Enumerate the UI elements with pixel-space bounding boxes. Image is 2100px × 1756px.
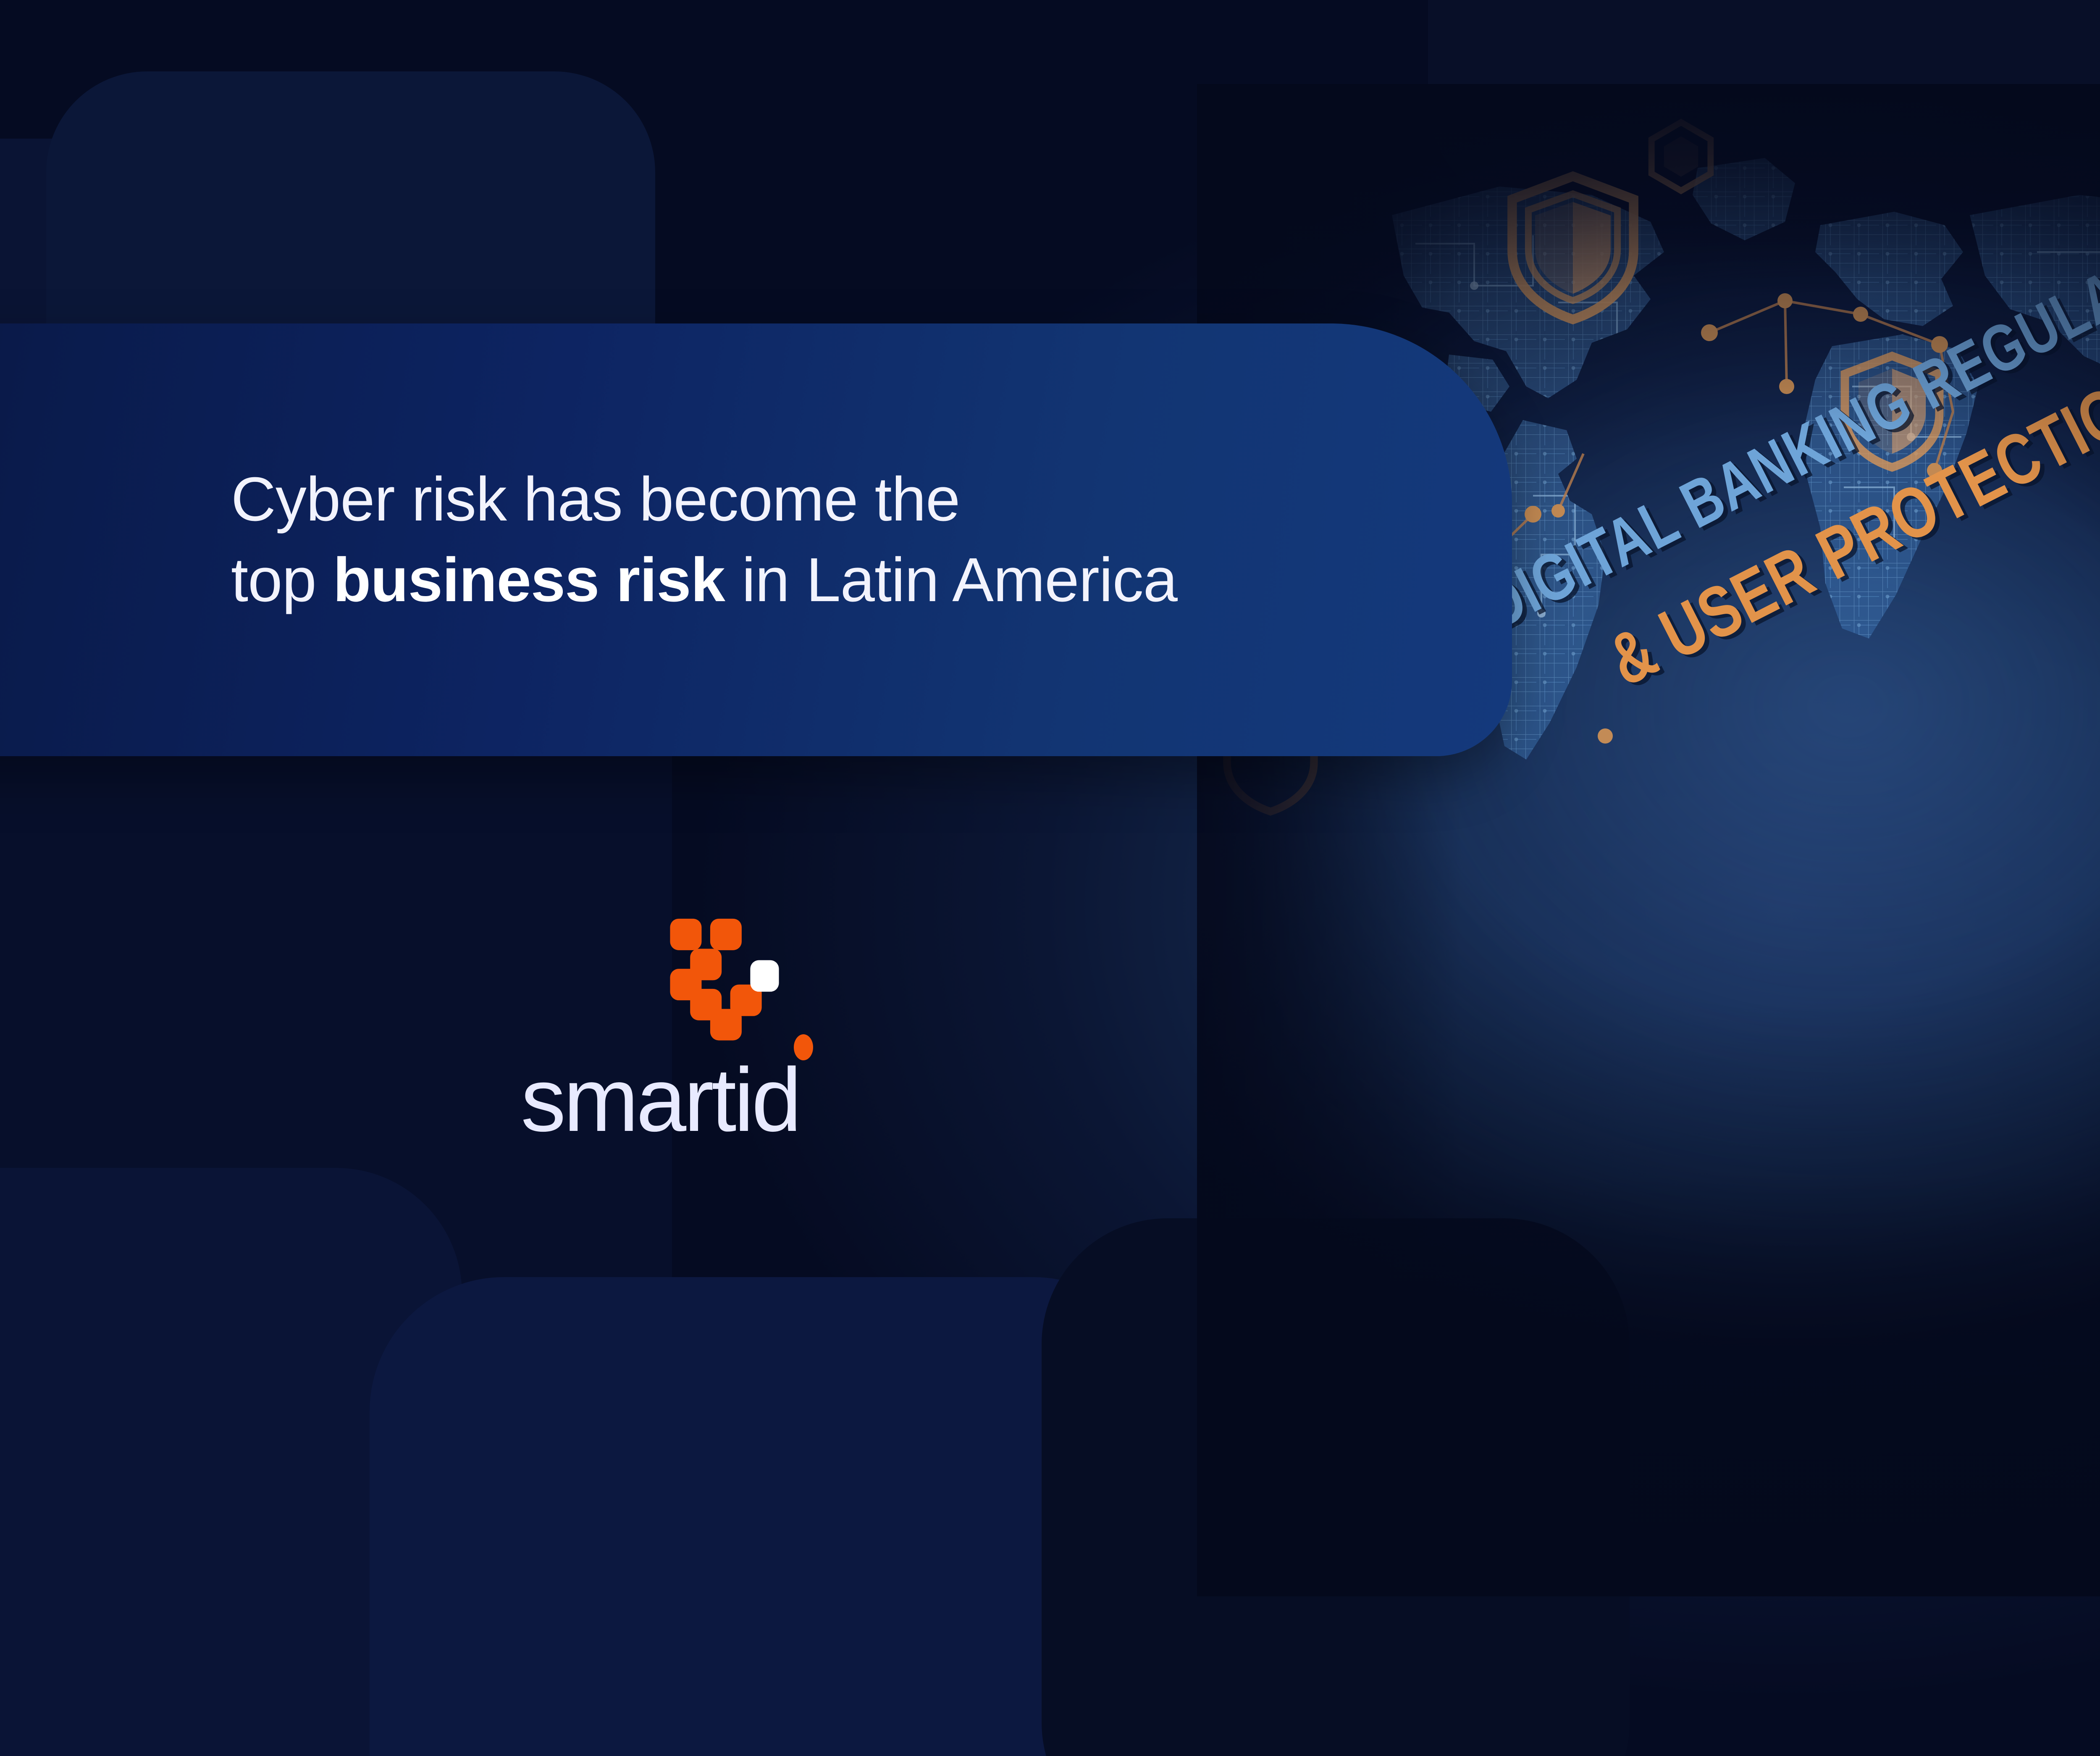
headline-emphasis: business risk [333, 545, 725, 615]
background-block-bottom-left-1 [0, 1168, 462, 1756]
brand-logo[interactable]: smartid [521, 916, 983, 1201]
background-block-bottom-left-2 [370, 1277, 1168, 1756]
cyber-artwork: DIGITAL BANKING REGULATION & USER PROTEC… [1197, 84, 2100, 1596]
banner-root: DIGITAL BANKING REGULATION & USER PROTEC… [0, 0, 2100, 1756]
headline-line-2: top business risk in Latin America [231, 540, 1449, 620]
artwork-vignette [1197, 84, 2100, 1596]
headline-line-2-suffix: in Latin America [725, 545, 1177, 615]
wordmark-accent-dot-icon [794, 1034, 813, 1060]
brand-wordmark: smartid [521, 1054, 799, 1145]
headline-line-2-prefix: top [231, 545, 333, 615]
headline-line-1: Cyber risk has become the [231, 459, 1449, 540]
brand-wordmark-text: smartid [521, 1049, 799, 1150]
headline-panel: Cyber risk has become the top business r… [0, 323, 1512, 756]
smartid-pixel-mark-icon [666, 916, 783, 1042]
page-title: Cyber risk has become the top business r… [231, 459, 1449, 621]
